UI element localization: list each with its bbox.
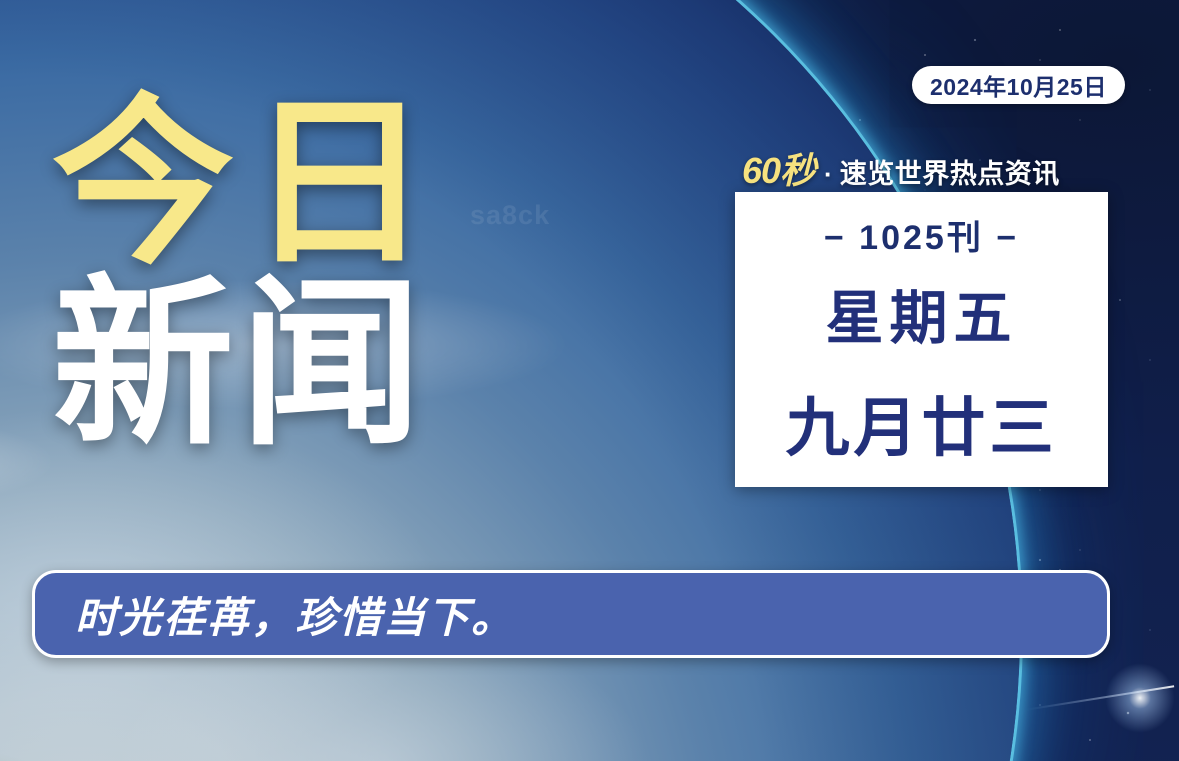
quote-bar: 时光荏苒，珍惜当下。 — [32, 570, 1110, 658]
tagline: 60秒 · 速览世界热点资讯 — [742, 142, 1060, 194]
lunar-date-label: 九月廿三 — [786, 377, 1058, 469]
tagline-seconds: 60秒 — [742, 142, 815, 194]
page-title-line-2: 新闻 — [52, 277, 444, 452]
issue-number: − 1025刊 − — [824, 210, 1019, 259]
info-card: − 1025刊 − 星期五 九月廿三 — [735, 192, 1108, 487]
page-title: 今日 新闻 — [52, 96, 444, 451]
weekday-label: 星期五 — [825, 271, 1017, 355]
date-badge: 2024年10月25日 — [912, 66, 1125, 104]
tagline-separator: · — [815, 159, 840, 190]
tagline-description: 速览世界热点资讯 — [840, 152, 1060, 191]
quote-text: 时光荏苒，珍惜当下。 — [75, 584, 515, 645]
page-title-line-1: 今日 — [52, 96, 444, 271]
news-poster: sa8ck 2024年10月25日 60秒 · 速览世界热点资讯 今日 新闻 −… — [0, 0, 1179, 761]
